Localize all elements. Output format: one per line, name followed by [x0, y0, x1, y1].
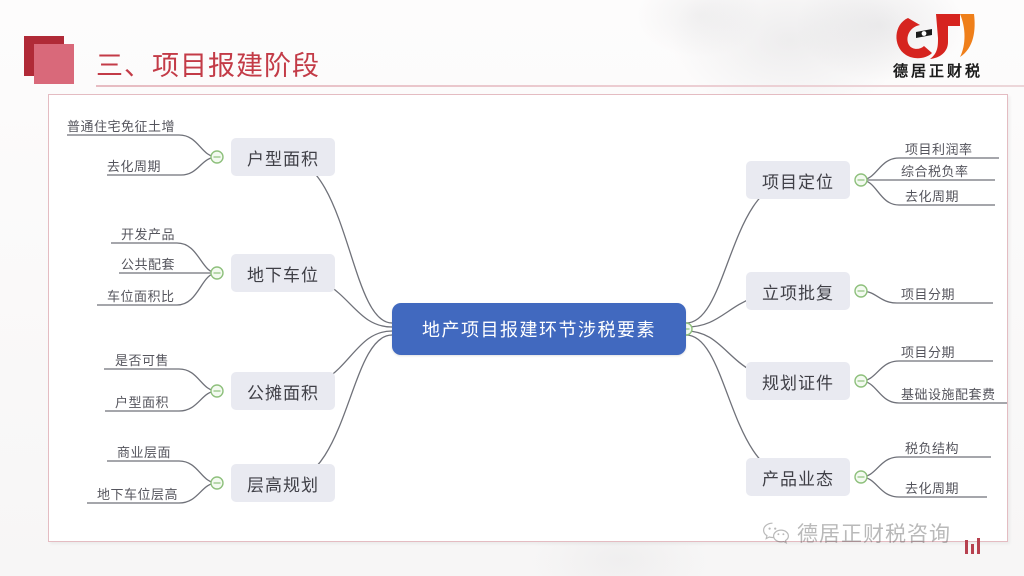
mindmap-leaf[interactable]: 项目分期	[901, 342, 955, 361]
mindmap-leaf[interactable]: 项目利润率	[905, 139, 973, 158]
page-title: 三、项目报建阶段	[96, 44, 320, 83]
mindmap-leaf[interactable]: 地下车位层高	[97, 484, 178, 503]
mindmap-leaf[interactable]: 车位面积比	[107, 286, 175, 305]
mindmap-leaf[interactable]: 综合税负率	[901, 161, 969, 180]
logo-text: 德居正财税	[874, 60, 1002, 81]
mindmap-branch-lixiangpifu[interactable]: 立项批复	[746, 272, 850, 310]
title-square-front	[34, 44, 74, 84]
mindmap-leaf[interactable]: 去化周期	[107, 156, 161, 175]
mindmap-branch-guihuazhengjian[interactable]: 规划证件	[746, 362, 850, 400]
company-logo: 德居正财税	[874, 12, 1002, 84]
footer-watermark-text: 德居正财税咨询	[797, 518, 951, 548]
mindmap-leaf[interactable]: 去化周期	[905, 478, 959, 497]
mindmap-branch-chanpinyetai[interactable]: 产品业态	[746, 458, 850, 496]
mindmap-branch-huxingmianji[interactable]: 户型面积	[231, 138, 335, 176]
wechat-icon	[762, 521, 790, 545]
mindmap-center-node[interactable]: 地产项目报建环节涉税要素	[392, 303, 686, 355]
content-panel: 地产项目报建环节涉税要素 户型面积 地下车位 公摊面积 层高规划 项目定位 立项…	[48, 94, 1008, 542]
mindmap-branch-xiangmudingwei[interactable]: 项目定位	[746, 161, 850, 199]
mindmap-branch-dixiacheiwei[interactable]: 地下车位	[231, 254, 335, 292]
mindmap-leaf[interactable]: 是否可售	[115, 350, 169, 369]
logo-mark-icon	[890, 12, 986, 62]
mindmap-branch-gongtanmianji[interactable]: 公摊面积	[231, 372, 335, 410]
page-marker	[965, 538, 980, 554]
mindmap-leaf[interactable]: 去化周期	[905, 186, 959, 205]
mindmap-leaf[interactable]: 普通住宅免征土增	[67, 116, 175, 135]
mindmap-leaf[interactable]: 开发产品	[121, 224, 175, 243]
slide-canvas: 三、项目报建阶段 德居正财税	[0, 0, 1024, 576]
mindmap-leaf[interactable]: 项目分期	[901, 284, 955, 303]
footer-watermark: 德居正财税咨询	[762, 518, 951, 548]
mindmap-leaf[interactable]: 基础设施配套费	[901, 384, 996, 403]
mindmap-diagram: 地产项目报建环节涉税要素 户型面积 地下车位 公摊面积 层高规划 项目定位 立项…	[49, 95, 1007, 541]
mindmap-branch-cenggaoguihua[interactable]: 层高规划	[231, 464, 335, 502]
mindmap-leaf[interactable]: 商业层面	[117, 442, 171, 461]
title-divider	[96, 85, 1024, 87]
slide-header: 三、项目报建阶段 德居正财税	[0, 0, 1024, 88]
mindmap-leaf[interactable]: 税负结构	[905, 438, 959, 457]
mindmap-leaf[interactable]: 公共配套	[121, 254, 175, 273]
mindmap-leaf[interactable]: 户型面积	[115, 392, 169, 411]
